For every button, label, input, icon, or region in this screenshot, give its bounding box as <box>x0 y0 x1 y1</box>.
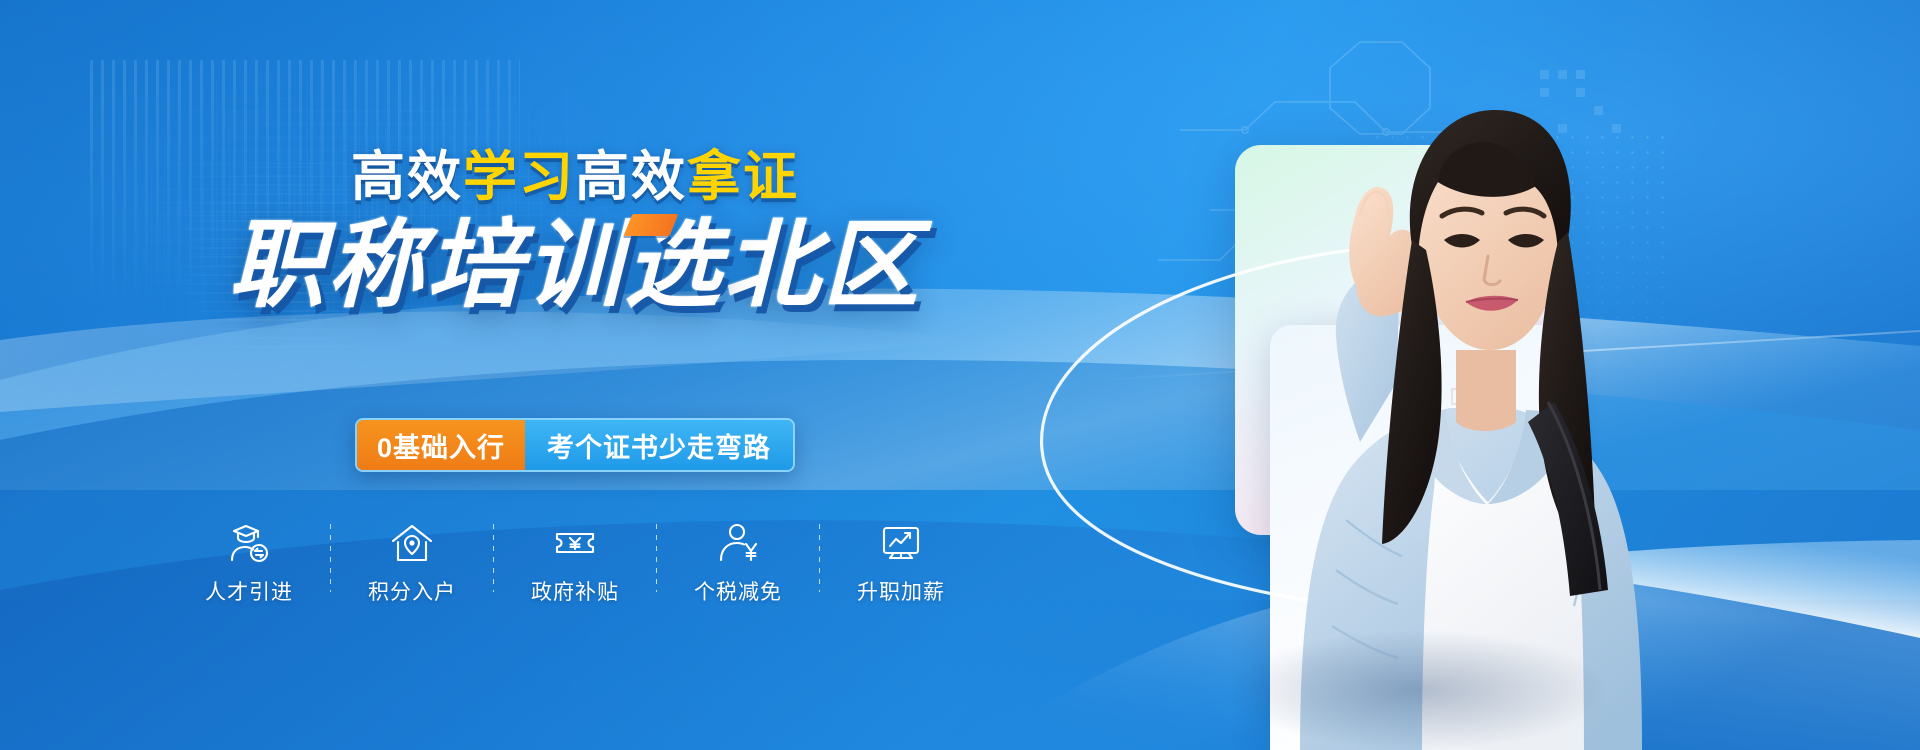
pill-left-label: 0基础入行 <box>357 420 525 470</box>
kicker-segment-2: 学习 <box>463 147 575 207</box>
kicker-segment-1: 高效 <box>351 147 463 207</box>
feature-divider-4 <box>819 524 820 592</box>
feature-item-hukou[interactable]: 积分入户 <box>345 520 479 606</box>
feature-label-talent: 人才引进 <box>205 576 293 606</box>
main-title-part-1: 职称培训 <box>229 212 625 319</box>
pill-right-label: 考个证书少走弯路 <box>525 420 793 470</box>
promo-banner: 高效学习高效拿证 职称培训选北区 0基础入行 考个证书少走弯路 人才引进 <box>0 0 1920 750</box>
kicker-segment-4: 拿证 <box>687 147 799 207</box>
kicker-segment-3: 高效 <box>575 147 687 207</box>
main-title-accent-group: 选 <box>625 218 724 314</box>
feature-divider-1 <box>330 524 331 592</box>
main-title: 职称培训选北区 <box>0 218 1150 314</box>
main-title-part-3: 北区 <box>724 212 922 319</box>
kicker-headline: 高效学习高效拿证 <box>0 150 1150 204</box>
feature-item-subsidy[interactable]: 政府补贴 <box>508 520 642 606</box>
tagline-pill: 0基础入行 考个证书少走弯路 <box>355 418 795 472</box>
feature-label-tax: 个税减免 <box>694 576 782 606</box>
feature-item-promotion[interactable]: 升职加薪 <box>834 520 968 606</box>
copy-block: 高效学习高效拿证 职称培训选北区 0基础入行 考个证书少走弯路 人才引进 <box>0 0 1150 750</box>
graduate-person-icon <box>226 520 272 566</box>
growth-chart-board-icon <box>878 520 924 566</box>
presenter-shadow <box>1230 630 1610 750</box>
feature-label-hukou: 积分入户 <box>368 576 456 606</box>
feature-item-tax[interactable]: 个税减免 <box>671 520 805 606</box>
feature-list: 人才引进 积分入户 政府补贴 <box>182 520 968 606</box>
feature-divider-2 <box>493 524 494 592</box>
feature-label-subsidy: 政府补贴 <box>531 576 619 606</box>
orange-accent-stroke <box>623 214 678 236</box>
feature-divider-3 <box>656 524 657 592</box>
feature-item-talent[interactable]: 人才引进 <box>182 520 316 606</box>
person-yuan-icon <box>715 520 761 566</box>
house-pin-icon <box>389 520 435 566</box>
presenter-photo <box>1150 50 1670 750</box>
feature-label-promotion: 升职加薪 <box>857 576 945 606</box>
coupon-ticket-icon <box>552 520 598 566</box>
